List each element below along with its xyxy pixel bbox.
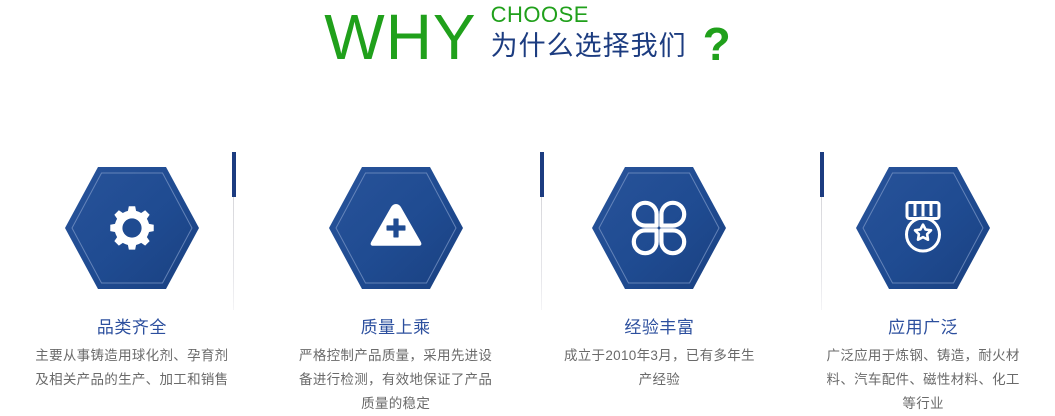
medal-icon [854, 165, 992, 291]
feature-card-title: 品类齐全 [97, 317, 167, 339]
clover-icon [590, 165, 728, 291]
hexagon-badge-4 [854, 165, 992, 291]
heading-question-mark: ? [687, 0, 731, 68]
feature-card-title: 质量上乘 [361, 317, 431, 339]
feature-card-description: 主要从事铸造用球化剂、孕育剂及相关产品的生产、加工和销售 [32, 344, 232, 392]
column-divider-3 [820, 152, 824, 310]
feature-card-description: 严格控制产品质量，采用先进设备进行检测，有效地保证了产品质量的稳定 [296, 344, 496, 416]
divider-blue-segment [540, 152, 544, 197]
hexagon-badge-3 [590, 165, 728, 291]
divider-gray-segment [821, 197, 822, 310]
column-divider-2 [540, 152, 544, 310]
divider-gray-segment [233, 197, 234, 310]
hexagon-badge-1 [63, 165, 201, 291]
divider-gray-segment [541, 197, 542, 310]
heading-why-word: WHY [324, 0, 476, 72]
feature-card-title: 经验丰富 [624, 317, 694, 339]
why-choose-us-section: WHY CHOOSE 为什么选择我们 ? [0, 0, 1055, 416]
heading-choose-word: CHOOSE [491, 2, 589, 28]
column-divider-1 [232, 152, 236, 310]
feature-card-experience[interactable]: 经验丰富 成立于2010年3月，已有多年生产经验 [528, 150, 792, 416]
feature-card-description: 成立于2010年3月，已有多年生产经验 [559, 344, 759, 392]
heading-chinese-subtitle: 为什么选择我们 [491, 29, 687, 63]
divider-blue-segment [232, 152, 236, 197]
feature-card-applications[interactable]: 应用广泛 广泛应用于炼钢、铸造，耐火材料、汽车配件、磁性材料、化工等行业 [791, 150, 1055, 416]
divider-blue-segment [820, 152, 824, 197]
feature-cards-row: 品类齐全 主要从事铸造用球化剂、孕育剂及相关产品的生产、加工和销售 [0, 150, 1055, 416]
feature-card-description: 广泛应用于炼钢、铸造，耐火材料、汽车配件、磁性材料、化工等行业 [823, 344, 1023, 416]
hexagon-badge-2 [327, 165, 465, 291]
section-heading: WHY CHOOSE 为什么选择我们 ? [0, 0, 1055, 92]
triangle-plus-icon [327, 165, 465, 291]
feature-card-product-range[interactable]: 品类齐全 主要从事铸造用球化剂、孕育剂及相关产品的生产、加工和销售 [0, 150, 264, 416]
feature-card-quality[interactable]: 质量上乘 严格控制产品质量，采用先进设备进行检测，有效地保证了产品质量的稳定 [264, 150, 528, 416]
gear-icon [63, 165, 201, 291]
feature-card-title: 应用广泛 [888, 317, 958, 339]
